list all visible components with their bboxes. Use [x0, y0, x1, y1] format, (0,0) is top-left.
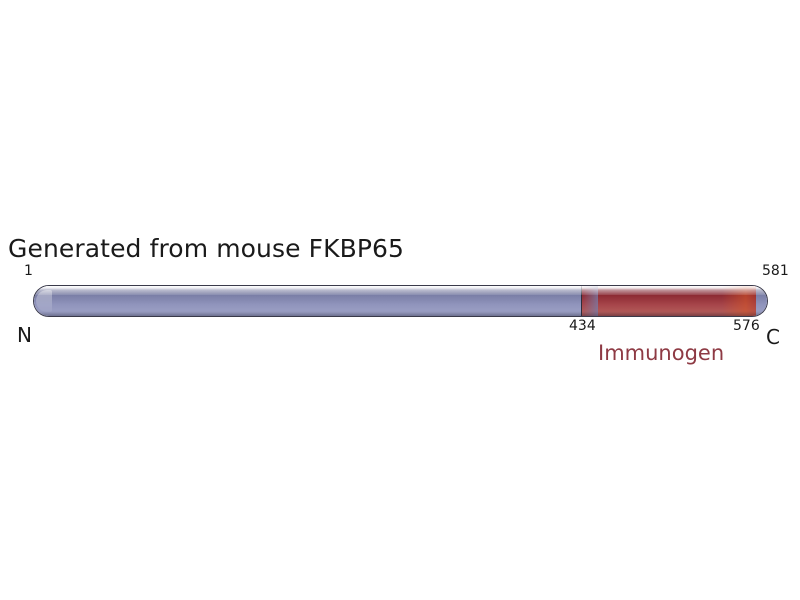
n-terminus-label: N	[17, 324, 32, 346]
segment-blend	[582, 286, 598, 316]
residue-start-label: 1	[24, 263, 33, 279]
protein-bar	[33, 285, 768, 317]
immunogen-start-label: 434	[569, 318, 596, 334]
immunogen-segment	[581, 286, 757, 316]
immunogen-end-label: 576	[733, 318, 760, 334]
c-terminus-label: C	[766, 326, 780, 348]
immunogen-caption: Immunogen	[598, 341, 724, 366]
figure-title: Generated from mouse FKBP65	[8, 234, 404, 264]
residue-end-label: 581	[762, 263, 789, 279]
protein-bar-outline	[33, 285, 768, 317]
protein-domain-figure: Generated from mouse FKBP65 1 581 434 57…	[0, 0, 800, 600]
